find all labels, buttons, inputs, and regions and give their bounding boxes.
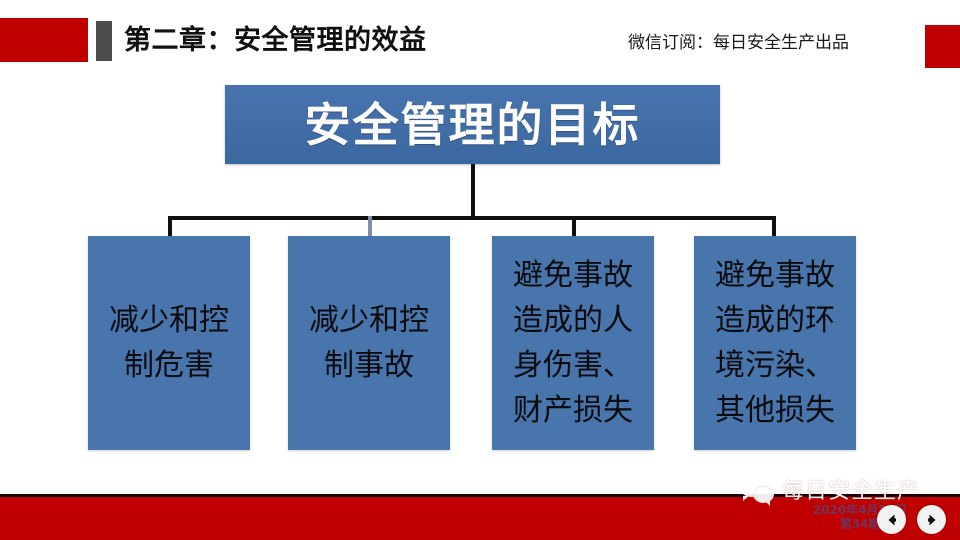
watermark-label: 每日安全生产 bbox=[782, 479, 920, 505]
header-gray-accent-bar bbox=[96, 21, 112, 61]
arrow-right-icon bbox=[924, 512, 940, 528]
diagram-child-label-4: 避免事故造成的环境污染、其他损失 bbox=[708, 253, 842, 433]
connector-drop-1 bbox=[168, 216, 172, 237]
arrow-left-icon bbox=[884, 512, 900, 528]
diagram-child-node-3: 避免事故造成的人身伤害、财产损失 bbox=[492, 236, 654, 450]
connector-root-stem bbox=[471, 164, 475, 219]
diagram-child-node-2: 减少和控制事故 bbox=[288, 236, 450, 450]
connector-horizontal-bar bbox=[168, 216, 776, 220]
connector-drop-3 bbox=[572, 216, 576, 237]
diagram-root-node: 安全管理的目标 bbox=[225, 85, 720, 164]
header-red-block-right bbox=[925, 25, 960, 68]
next-slide-button[interactable] bbox=[917, 505, 946, 534]
prev-slide-button[interactable] bbox=[877, 505, 906, 534]
diagram-child-node-1: 减少和控制危害 bbox=[88, 236, 250, 450]
diagram-child-label-2: 减少和控制事故 bbox=[302, 298, 436, 388]
diagram-child-node-4: 避免事故造成的环境污染、其他损失 bbox=[694, 236, 856, 450]
connector-drop-4 bbox=[772, 216, 776, 237]
chapter-title: 第二章：安全管理的效益 bbox=[124, 24, 427, 58]
diagram-child-label-3: 避免事故造成的人身伤害、财产损失 bbox=[506, 253, 640, 433]
slide-canvas: 第二章：安全管理的效益 微信订阅：每日安全生产出品 安全管理的目标 减少和控制危… bbox=[0, 0, 960, 540]
connector-drop-2 bbox=[368, 216, 372, 237]
header-red-block-left bbox=[0, 18, 88, 62]
subscribe-note: 微信订阅：每日安全生产出品 bbox=[628, 32, 849, 54]
diagram-child-label-1: 减少和控制危害 bbox=[102, 298, 236, 388]
wechat-icon bbox=[740, 479, 774, 505]
watermark: 每日安全生产 bbox=[740, 472, 940, 512]
diagram-root-label: 安全管理的目标 bbox=[305, 99, 641, 151]
